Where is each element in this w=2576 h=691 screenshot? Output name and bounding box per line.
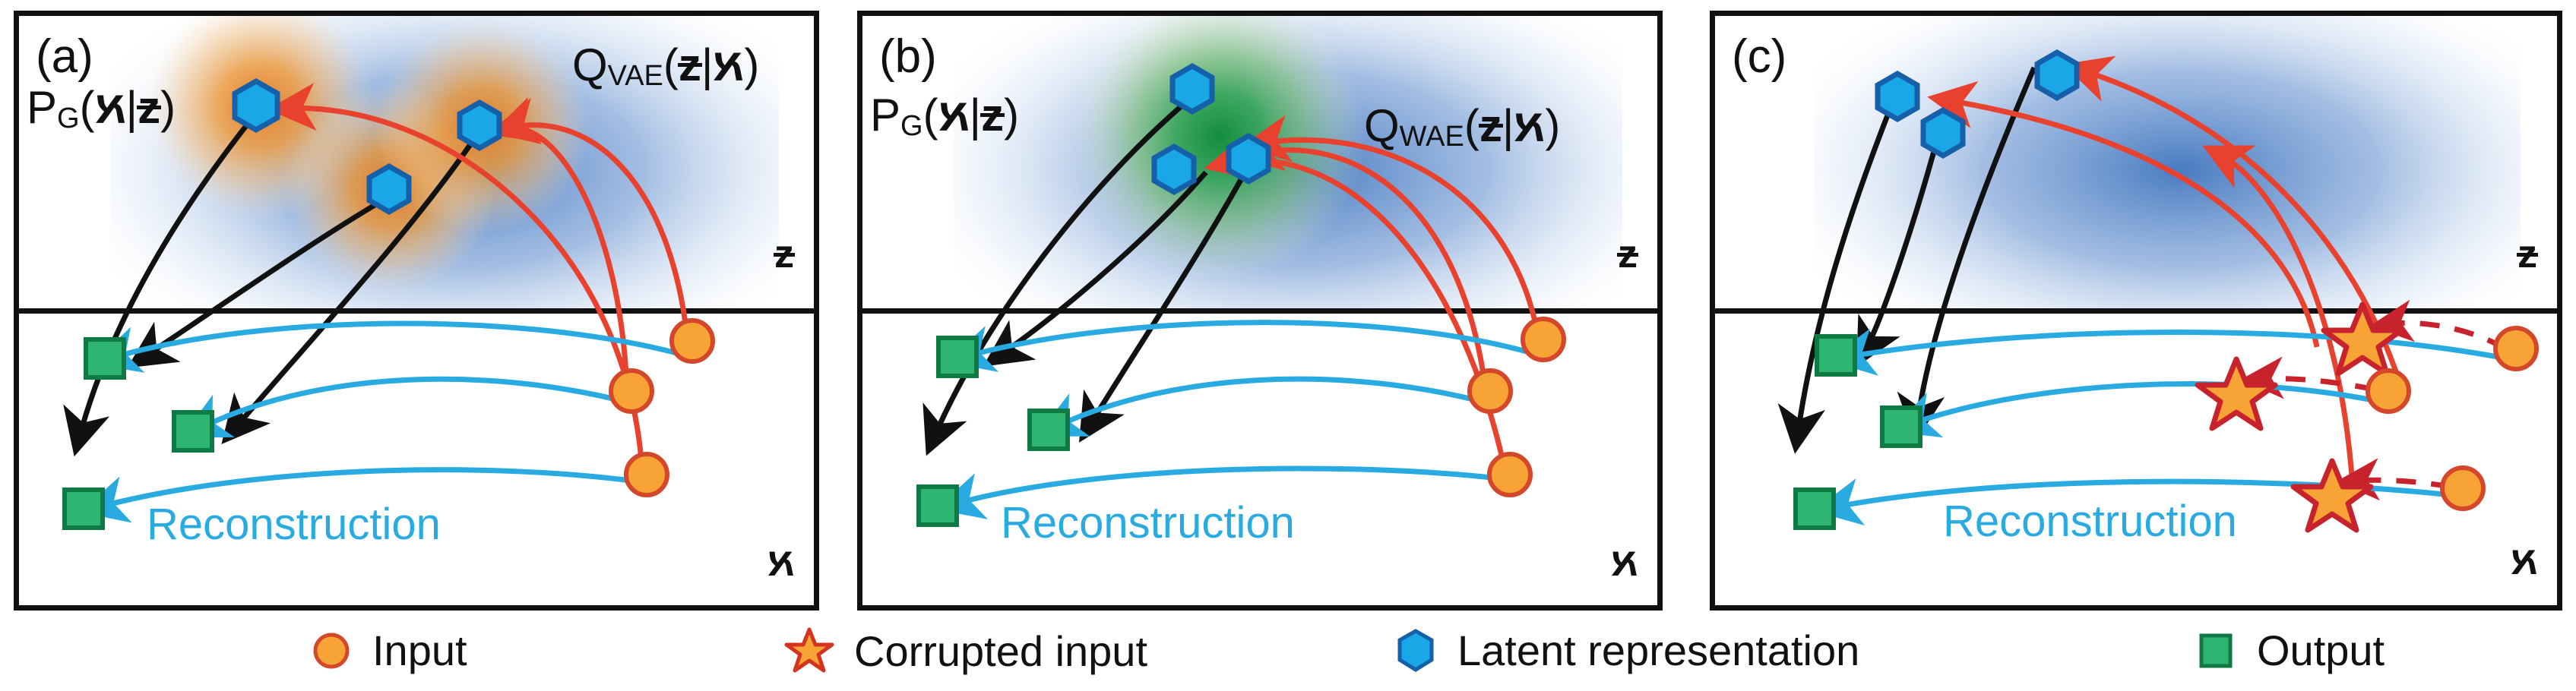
panel-c-label: (c) [1732, 30, 1786, 84]
square-marker-icon [2195, 629, 2237, 672]
figure-root: (a) PG(א|z) QVAE(z|א) z א Reconstruction [0, 0, 2576, 691]
panel-a-reconstruction-label: Reconstruction [147, 499, 441, 550]
latent-hexagon [1154, 66, 1268, 192]
latent-hexagon [235, 81, 499, 212]
panel-c-data-axis-label: א [2511, 538, 2537, 584]
legend-label-input: Input [372, 626, 467, 675]
panel-a-generator-label: PG(א|z) [27, 81, 176, 135]
panel-b-latent-axis-label: z [1618, 232, 1638, 277]
circle-marker-icon [310, 629, 353, 672]
panel-a: (a) PG(א|z) QVAE(z|א) z א Reconstruction [14, 11, 819, 611]
panel-a-posterior-label: QVAE(z|א) [572, 39, 759, 93]
panel-c-latent-axis-label: z [2517, 232, 2537, 277]
output-square [1796, 336, 1920, 528]
legend-label-output: Output [2257, 626, 2385, 675]
legend-label-corrupted-input: Corrupted input [854, 626, 1147, 676]
hexagon-marker-icon [1394, 627, 1438, 674]
panel-b-posterior-label: QWAE(z|א) [1364, 99, 1560, 153]
panel-a-data-axis-label: א [767, 540, 794, 585]
panel-b: (b) PG(א|z) QWAE(z|א) z א Reconstruction [857, 11, 1663, 611]
panel-c-reconstruction-label: Reconstruction [1943, 496, 2237, 547]
legend-item-corrupted-input: Corrupted input [784, 626, 1147, 676]
panel-b-label: (b) [879, 30, 937, 84]
star-marker-icon [784, 626, 834, 676]
panel-c: (c) z א Reconstruction [1710, 11, 2562, 611]
panel-a-latent-axis-label: z [774, 232, 794, 277]
legend-item-latent-representation: Latent representation [1394, 626, 1859, 675]
input-circle [2368, 328, 2536, 509]
panel-a-label: (a) [36, 30, 93, 84]
input-circle [611, 320, 713, 495]
legend-item-output: Output [2195, 626, 2385, 675]
legend-label-latent-representation: Latent representation [1457, 626, 1859, 675]
legend: Input Corrupted input Latent representat… [0, 617, 2576, 689]
panel-b-reconstruction-label: Reconstruction [1001, 497, 1295, 548]
input-circle [1470, 319, 1564, 495]
panel-b-generator-label: PG(א|z) [870, 89, 1019, 143]
latent-hexagon [1878, 52, 2077, 156]
panel-b-data-axis-label: א [1611, 540, 1638, 585]
legend-item-input: Input [310, 626, 467, 675]
